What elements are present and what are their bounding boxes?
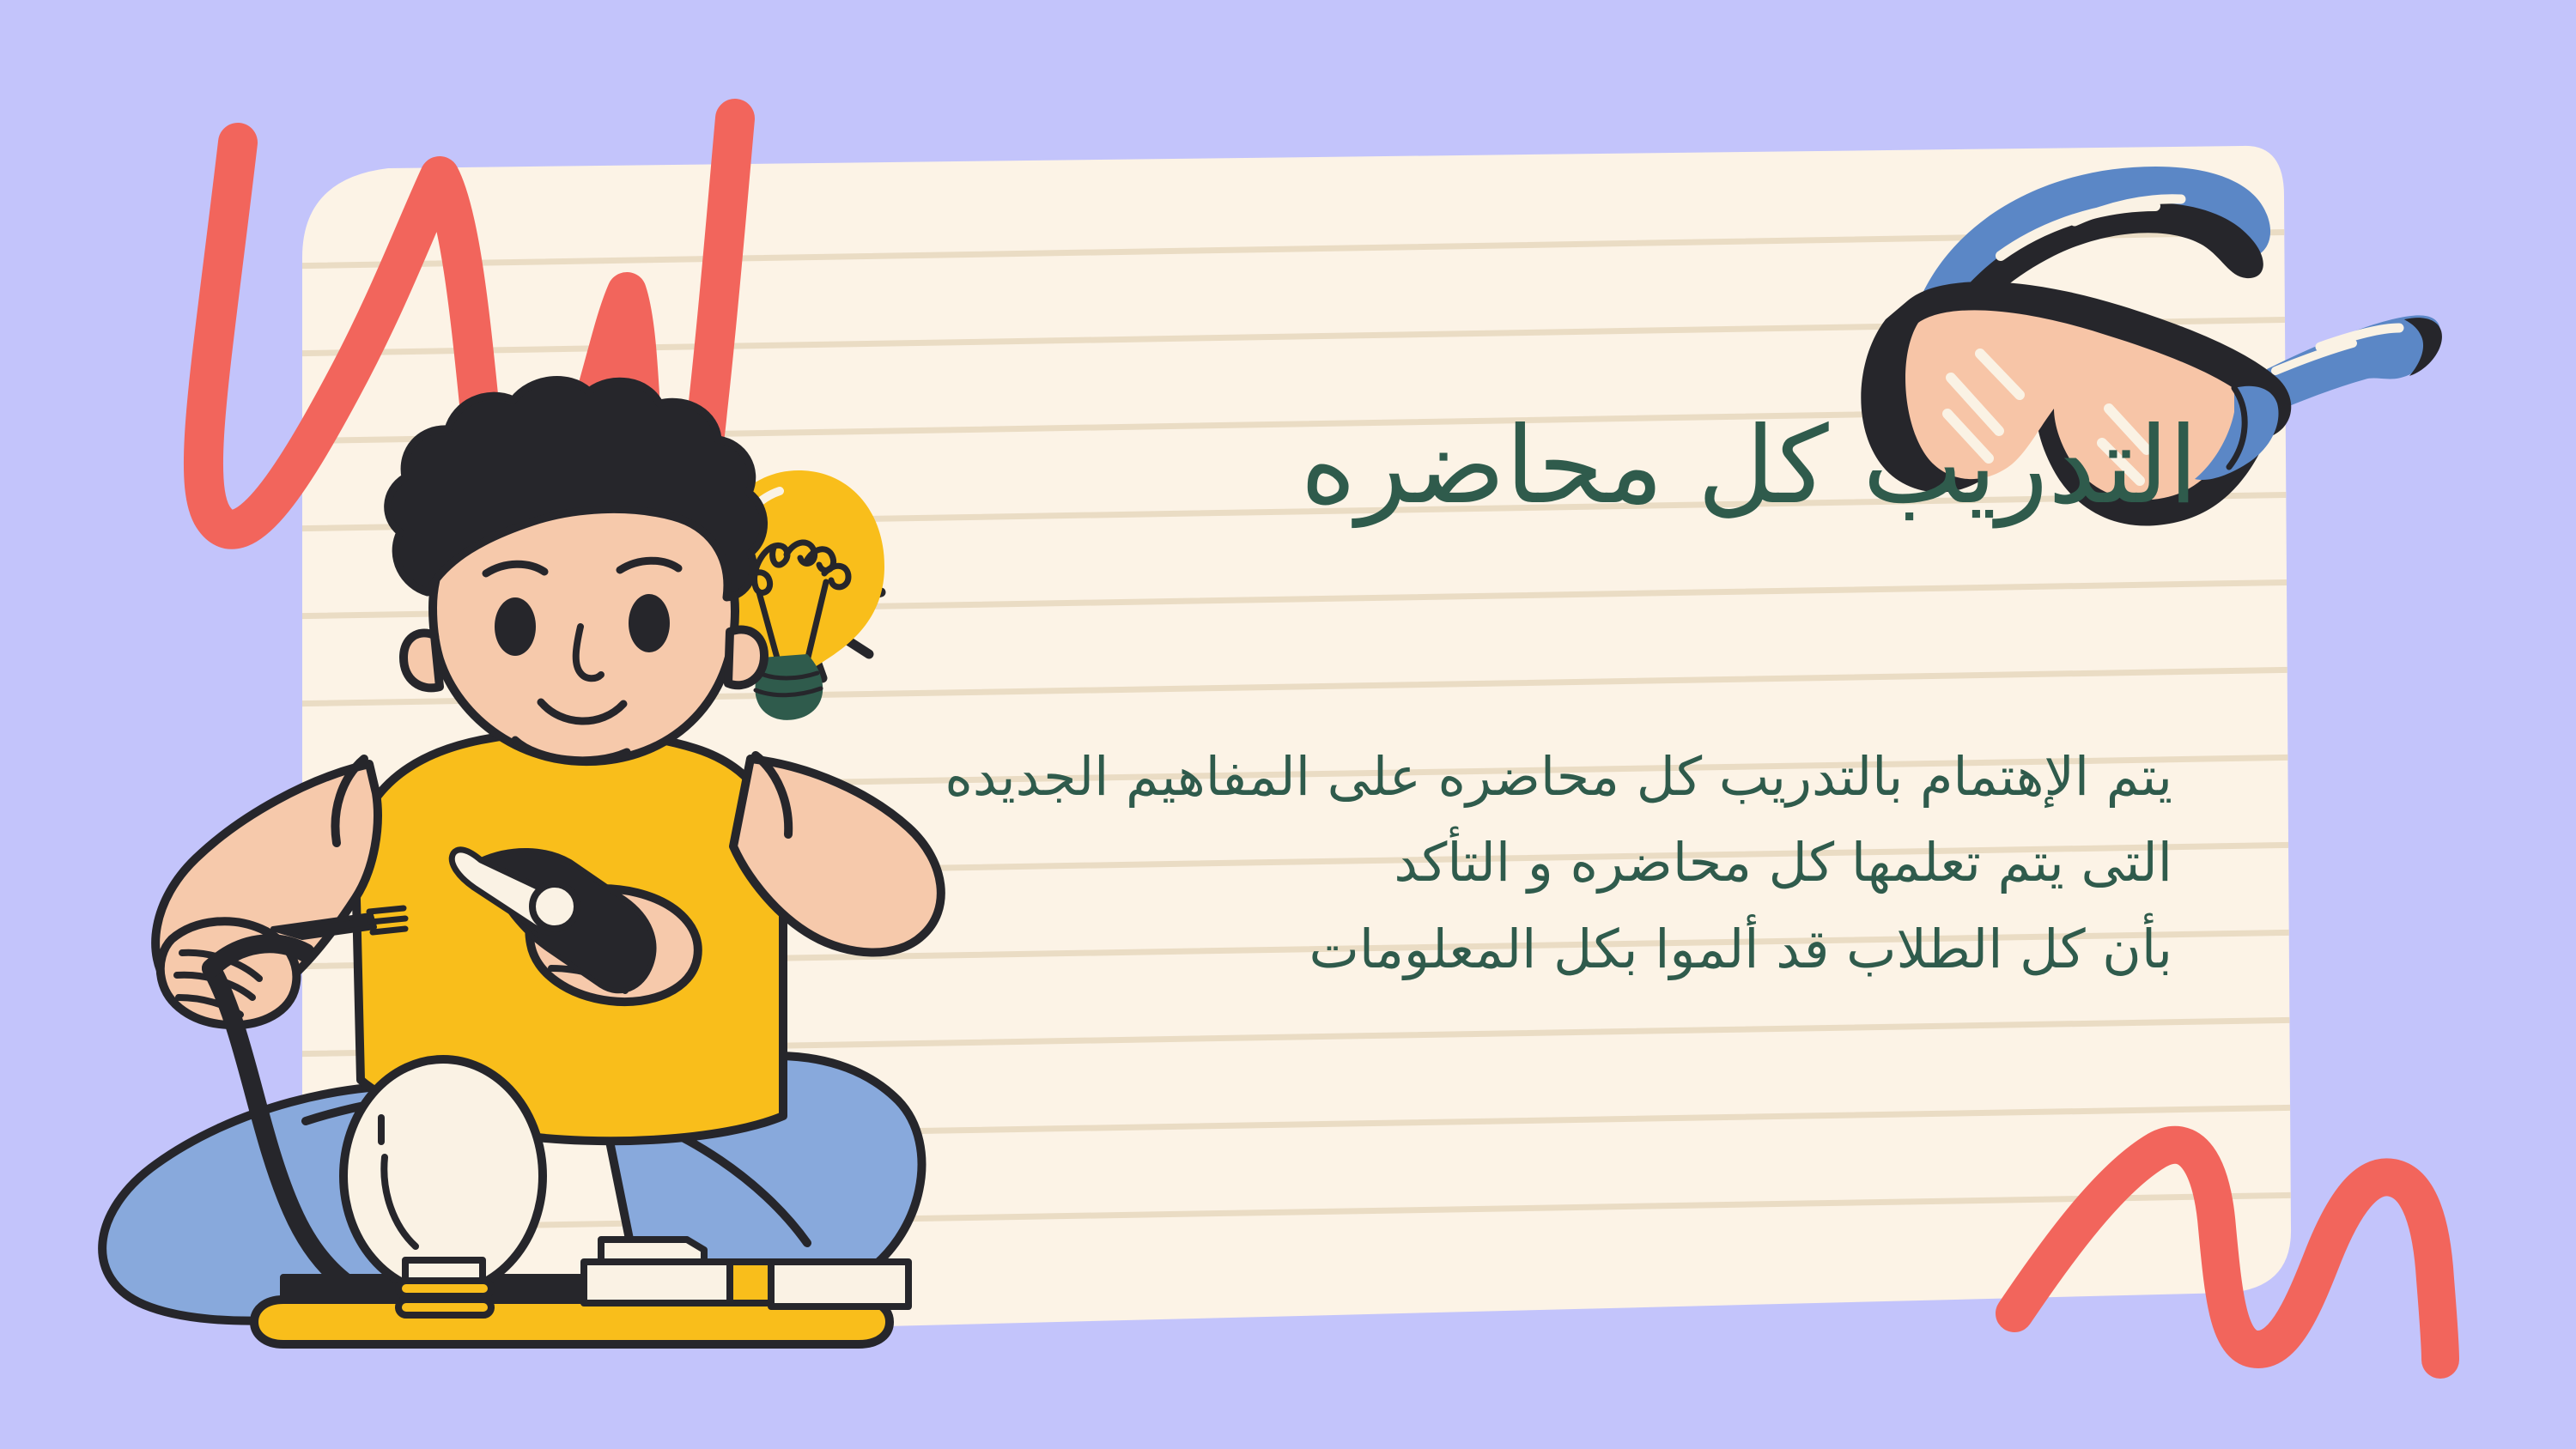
slide-canvas: التدريب كل محاضره يتم الإهتمام بالتدريب …: [0, 0, 2576, 1449]
slide-artwork: [0, 0, 2576, 1449]
